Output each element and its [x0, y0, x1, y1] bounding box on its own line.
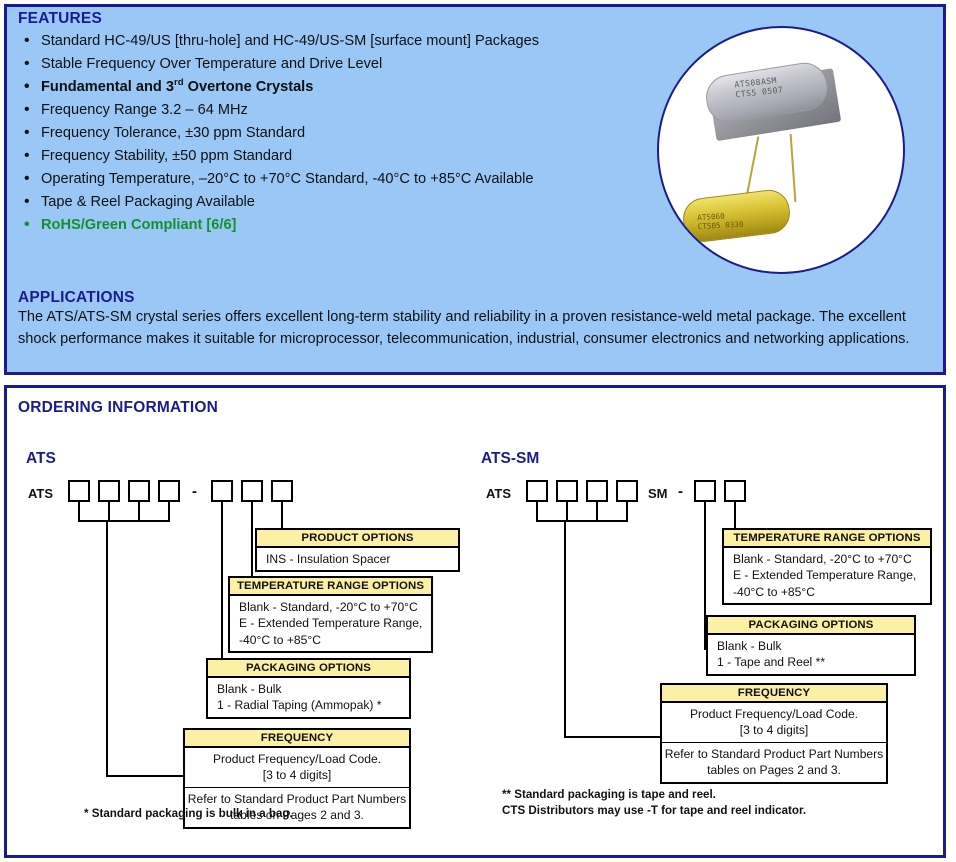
- ats-sm-footnote-line1: ** Standard packaging is tape and reel.: [502, 787, 806, 803]
- feature-text: Tape & Reel Packaging Available: [41, 194, 255, 210]
- callout-line: INS - Insulation Spacer: [266, 551, 458, 568]
- ats-sm-footnote: ** Standard packaging is tape and reel. …: [502, 787, 806, 818]
- ats-sm-suffix: SM: [648, 486, 668, 501]
- surface-mount-crystal-image: ATS08ASM CTS5 0507: [703, 58, 841, 142]
- callout-header: TEMPERATURE RANGE OPTIONS: [230, 578, 431, 596]
- feature-text: Stable Frequency Over Temperature and Dr…: [41, 56, 382, 72]
- ats-sm-code-box-5[interactable]: [694, 480, 716, 502]
- callout-line: Product Frequency/Load Code.: [662, 706, 886, 723]
- feature-text-post: Overtone Crystals: [184, 79, 314, 95]
- callout-header: FREQUENCY: [185, 730, 409, 748]
- ats-sm-code-box-2[interactable]: [556, 480, 578, 502]
- feature-item: Frequency Tolerance, ±30 ppm Standard: [20, 123, 660, 144]
- ats-bracket-drop-2: [108, 502, 110, 522]
- ats-bracket-drop-3: [138, 502, 140, 522]
- ats-footnote: * Standard packaging is bulk in a bag.: [84, 806, 293, 822]
- callout-line: Blank - Bulk: [717, 638, 914, 655]
- callout-line: E - Extended Temperature Range,: [239, 615, 431, 632]
- ats-dash: -: [192, 483, 197, 500]
- callout-header: FREQUENCY: [662, 685, 886, 703]
- ats-sm-code-box-6[interactable]: [724, 480, 746, 502]
- ats-code-box-3[interactable]: [128, 480, 150, 502]
- callout-divider: [185, 787, 409, 788]
- ats-sm-code-box-1[interactable]: [526, 480, 548, 502]
- ats-sm-bracket-drop-3: [596, 502, 598, 522]
- ats-sm-temperature-range-callout: TEMPERATURE RANGE OPTIONS Blank - Standa…: [722, 528, 932, 605]
- ats-sm-bracket-bar: [536, 520, 628, 522]
- ats-sm-bracket-drop-4: [626, 502, 628, 522]
- ats-sm-part-prefix: ATS: [486, 486, 511, 501]
- applications-body: The ATS/ATS-SM crystal series offers exc…: [18, 307, 918, 350]
- feature-text-sup: rd: [174, 77, 184, 88]
- ats-sm-frequency-callout: FREQUENCY Product Frequency/Load Code. […: [660, 683, 888, 784]
- callout-header: PACKAGING OPTIONS: [708, 617, 914, 635]
- feature-item: Frequency Stability, ±50 ppm Standard: [20, 146, 660, 167]
- ordering-heading: ORDERING INFORMATION: [18, 399, 218, 417]
- ats-sm-bracket-drop-2: [566, 502, 568, 522]
- feature-text: Frequency Tolerance, ±30 ppm Standard: [41, 125, 305, 141]
- ats-sm-diagram-title: ATS-SM: [481, 450, 539, 468]
- feature-item: Frequency Range 3.2 – 64 MHz: [20, 100, 660, 121]
- ats-bracket-bar: [78, 520, 170, 522]
- ats-code-box-1[interactable]: [68, 480, 90, 502]
- callout-header: TEMPERATURE RANGE OPTIONS: [724, 530, 930, 548]
- callout-header: PRODUCT OPTIONS: [257, 530, 458, 548]
- callout-line: [3 to 4 digits]: [185, 767, 409, 784]
- ats-sm-dash: -: [678, 483, 683, 500]
- feature-item: Operating Temperature, –20°C to +70°C St…: [20, 169, 660, 190]
- ats-bracket-drop-4: [168, 502, 170, 522]
- feature-text: Operating Temperature, –20°C to +70°C St…: [41, 171, 534, 187]
- callout-body: Blank - Standard, -20°C to +70°C E - Ext…: [230, 596, 431, 652]
- crystal-photo: ATS08ASM CTS5 0507 ATS060 CTS05 0330: [657, 26, 905, 274]
- applications-heading: APPLICATIONS: [18, 289, 135, 307]
- callout-body: Blank - Bulk 1 - Tape and Reel **: [708, 635, 914, 674]
- callout-line: Refer to Standard Product Part Numbers: [185, 791, 409, 808]
- ats-sm-bracket-drop-1: [536, 502, 538, 522]
- ats-frequency-leader-vertical: [106, 520, 108, 777]
- callout-line: [3 to 4 digits]: [662, 722, 886, 739]
- feature-text: Frequency Stability, ±50 ppm Standard: [41, 148, 292, 164]
- feature-item-rohs: RoHS/Green Compliant [6/6]: [20, 215, 660, 236]
- features-list: Standard HC-49/US [thru-hole] and HC-49/…: [20, 31, 660, 238]
- ats-temperature-range-callout: TEMPERATURE RANGE OPTIONS Blank - Standa…: [228, 576, 433, 653]
- callout-divider: [662, 742, 886, 743]
- ats-product-options-callout: PRODUCT OPTIONS INS - Insulation Spacer: [255, 528, 460, 572]
- thru-hole-crystal-image: ATS060 CTS05 0330: [681, 188, 791, 244]
- feature-text-pre: Fundamental and 3: [41, 79, 174, 95]
- callout-line: tables on Pages 2 and 3.: [662, 762, 886, 779]
- ats-code-box-7[interactable]: [271, 480, 293, 502]
- callout-line: -40°C to +85°C: [733, 584, 930, 601]
- callout-line: 1 - Tape and Reel **: [717, 654, 914, 671]
- callout-line: -40°C to +85°C: [239, 632, 431, 649]
- callout-body: Blank - Standard, -20°C to +70°C E - Ext…: [724, 548, 930, 604]
- ats-frequency-leader-horizontal: [106, 775, 186, 777]
- callout-body: Product Frequency/Load Code. [3 to 4 dig…: [662, 703, 886, 782]
- ats-sm-code-box-4[interactable]: [616, 480, 638, 502]
- crystal-lead-wire-right: [790, 134, 797, 202]
- ats-code-box-4[interactable]: [158, 480, 180, 502]
- feature-text: RoHS/Green Compliant [6/6]: [41, 217, 236, 233]
- ats-packaging-options-callout: PACKAGING OPTIONS Blank - Bulk 1 - Radia…: [206, 658, 411, 719]
- callout-header: PACKAGING OPTIONS: [208, 660, 409, 678]
- feature-item: Tape & Reel Packaging Available: [20, 192, 660, 213]
- ats-bracket-drop-1: [78, 502, 80, 522]
- feature-text: Standard HC-49/US [thru-hole] and HC-49/…: [41, 33, 539, 49]
- feature-item: Stable Frequency Over Temperature and Dr…: [20, 54, 660, 75]
- ats-code-box-5[interactable]: [211, 480, 233, 502]
- ats-diagram-title: ATS: [26, 450, 56, 468]
- ats-code-box-2[interactable]: [98, 480, 120, 502]
- callout-body: INS - Insulation Spacer: [257, 548, 458, 571]
- ats-code-box-6[interactable]: [241, 480, 263, 502]
- callout-line: E - Extended Temperature Range,: [733, 567, 930, 584]
- crystal-marking-th: ATS060 CTS05 0330: [697, 211, 744, 231]
- feature-text: Frequency Range 3.2 – 64 MHz: [41, 102, 248, 118]
- callout-line: Blank - Standard, -20°C to +70°C: [733, 551, 930, 568]
- features-heading: FEATURES: [18, 10, 102, 28]
- ats-sm-frequency-leader-horizontal: [564, 736, 661, 738]
- feature-item: Fundamental and 3rd Overtone Crystals: [20, 77, 660, 98]
- callout-body: Blank - Bulk 1 - Radial Taping (Ammopak)…: [208, 678, 409, 717]
- ats-sm-packaging-options-callout: PACKAGING OPTIONS Blank - Bulk 1 - Tape …: [706, 615, 916, 676]
- datasheet-page: FEATURES Standard HC-49/US [thru-hole] a…: [0, 0, 956, 862]
- ats-sm-footnote-line2: CTS Distributors may use -T for tape and…: [502, 803, 806, 819]
- ats-sm-frequency-leader-vertical: [564, 520, 566, 738]
- callout-line: Blank - Bulk: [217, 681, 409, 698]
- ats-sm-code-box-3[interactable]: [586, 480, 608, 502]
- callout-line: 1 - Radial Taping (Ammopak) *: [217, 697, 409, 714]
- callout-line: Refer to Standard Product Part Numbers: [662, 746, 886, 763]
- callout-line: Product Frequency/Load Code.: [185, 751, 409, 768]
- callout-line: Blank - Standard, -20°C to +70°C: [239, 599, 431, 616]
- feature-item: Standard HC-49/US [thru-hole] and HC-49/…: [20, 31, 660, 52]
- ats-part-prefix: ATS: [28, 486, 53, 501]
